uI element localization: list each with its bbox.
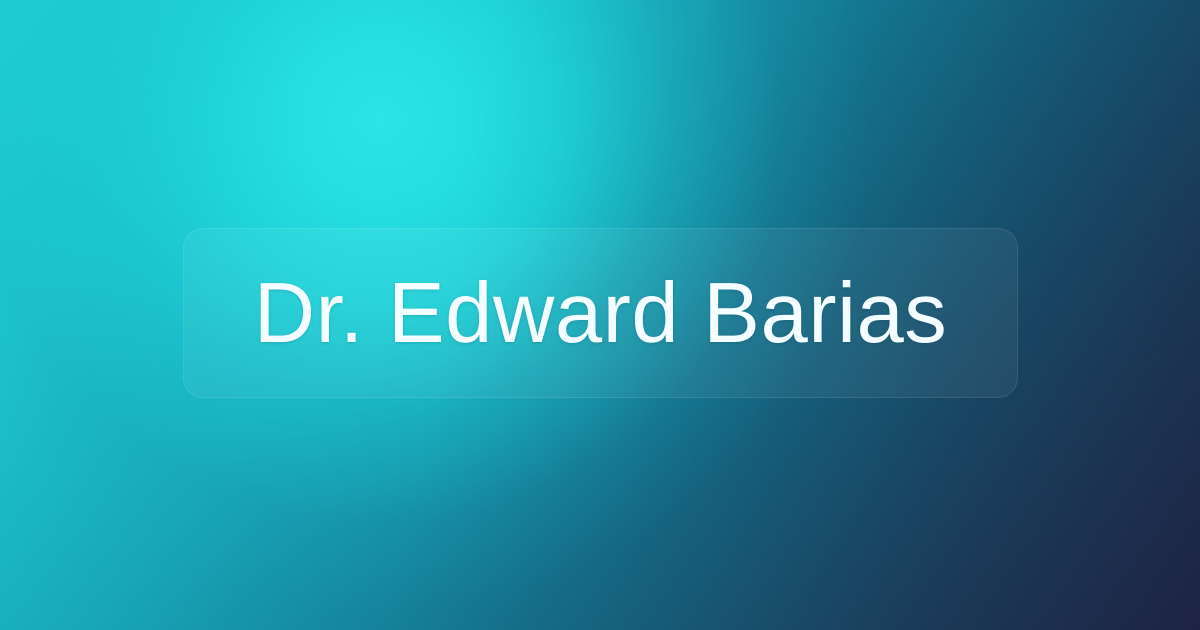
title-card: Dr. Edward Barias: [183, 228, 1018, 398]
page-title: Dr. Edward Barias: [184, 271, 1017, 356]
page-background: Dr. Edward Barias: [0, 0, 1200, 630]
